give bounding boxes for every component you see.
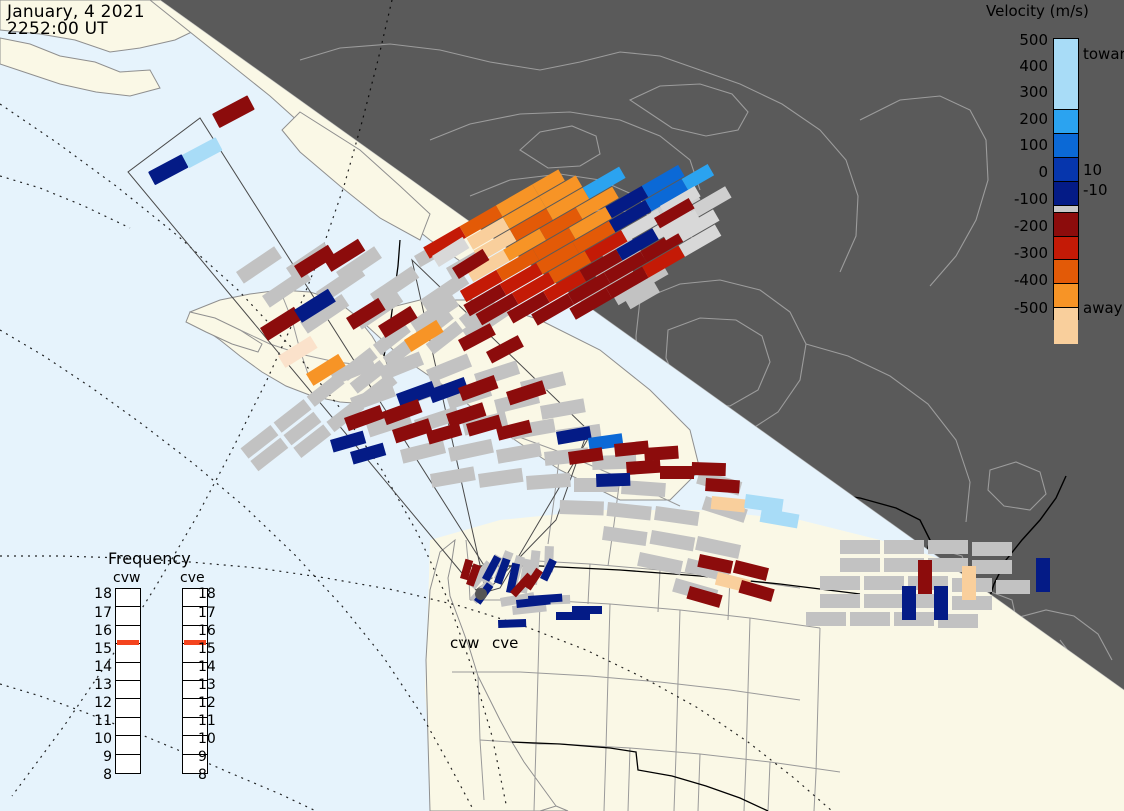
colorbar-segment-zero xyxy=(1054,206,1078,213)
colorbar-label-away: away xyxy=(1083,299,1123,317)
frequency-tick-cve-14: 14 xyxy=(198,659,222,675)
velocity-colorbar xyxy=(1053,38,1079,320)
map-canvas xyxy=(0,0,1124,811)
colorbar-tick-0: 0 xyxy=(988,163,1048,181)
frequency-tick-cvw-9: 9 xyxy=(88,749,112,765)
colorbar-title: Velocity (m/s) xyxy=(986,2,1089,20)
colorbar-tick-n300: -300 xyxy=(988,244,1048,262)
frequency-header-cve: cve xyxy=(180,570,205,586)
radar-site-label-cve: cve xyxy=(492,634,518,652)
frequency-tick-cvw-18: 18 xyxy=(88,586,112,602)
frequency-tick-cve-12: 12 xyxy=(198,695,222,711)
colorbar-label-toward: toward xyxy=(1083,45,1124,63)
colorbar-tick-n200: -200 xyxy=(988,217,1048,235)
colorbar-tick-300: 300 xyxy=(988,83,1048,101)
frequency-tick-cvw-11: 11 xyxy=(88,713,112,729)
frequency-tick-cvw-17: 17 xyxy=(88,605,112,621)
frequency-tick-cve-11: 11 xyxy=(198,713,222,729)
colorbar-segment-n300-n400 xyxy=(1054,284,1078,308)
radar-site-marker xyxy=(475,588,487,600)
colorbar-segment-n200-n300 xyxy=(1054,260,1078,284)
colorbar-tick-n400: -400 xyxy=(988,271,1048,289)
colorbar-tick-500: 500 xyxy=(988,31,1048,49)
frequency-tick-cve-8: 8 xyxy=(198,767,222,783)
frequency-header-cvw: cvw xyxy=(113,570,140,586)
colorbar-segment-200-300 xyxy=(1054,134,1078,158)
frequency-tick-cve-16: 16 xyxy=(198,623,222,639)
colorbar-tick-n100: -100 xyxy=(988,190,1048,208)
colorbar-segment-300-400 xyxy=(1054,110,1078,134)
colorbar-segment-100-200 xyxy=(1054,158,1078,182)
frequency-tick-cvw-16: 16 xyxy=(88,623,112,639)
frequency-tick-cve-13: 13 xyxy=(198,677,222,693)
frequency-gauge-cvw xyxy=(115,588,141,774)
colorbar-segment-n10-n100 xyxy=(1054,213,1078,237)
plot-time: 2252:00 UT xyxy=(7,19,108,39)
frequency-tick-cvw-8: 8 xyxy=(88,767,112,783)
frequency-tick-cvw-14: 14 xyxy=(88,659,112,675)
frequency-tick-cvw-13: 13 xyxy=(88,677,112,693)
colorbar-tick-400: 400 xyxy=(988,57,1048,75)
radar-site-label-cvw: cvw xyxy=(450,634,479,652)
radar-fan-plot: January, 4 2021 2252:00 UT Velocity (m/s… xyxy=(0,0,1124,811)
colorbar-label-plus-10: 10 xyxy=(1083,161,1102,179)
colorbar-tick-n500: -500 xyxy=(988,299,1048,317)
frequency-marker-cvw xyxy=(117,640,139,645)
colorbar-segment-n100-n200 xyxy=(1054,237,1078,261)
frequency-legend-title: Frequency xyxy=(108,549,191,568)
frequency-tick-cve-15: 15 xyxy=(198,641,222,657)
frequency-tick-cve-9: 9 xyxy=(198,749,222,765)
frequency-tick-cvw-12: 12 xyxy=(88,695,112,711)
frequency-tick-cvw-15: 15 xyxy=(88,641,112,657)
frequency-tick-cve-18: 18 xyxy=(198,586,222,602)
colorbar-tick-200: 200 xyxy=(988,110,1048,128)
frequency-tick-cve-17: 17 xyxy=(198,605,222,621)
colorbar-segment-400-500 xyxy=(1054,39,1078,110)
frequency-tick-cvw-10: 10 xyxy=(88,731,112,747)
colorbar-segment-10-100 xyxy=(1054,182,1078,206)
colorbar-label-minus-10: -10 xyxy=(1083,181,1108,199)
colorbar-segment-n400-n500 xyxy=(1054,308,1078,344)
frequency-tick-cve-10: 10 xyxy=(198,731,222,747)
colorbar-tick-100: 100 xyxy=(988,136,1048,154)
